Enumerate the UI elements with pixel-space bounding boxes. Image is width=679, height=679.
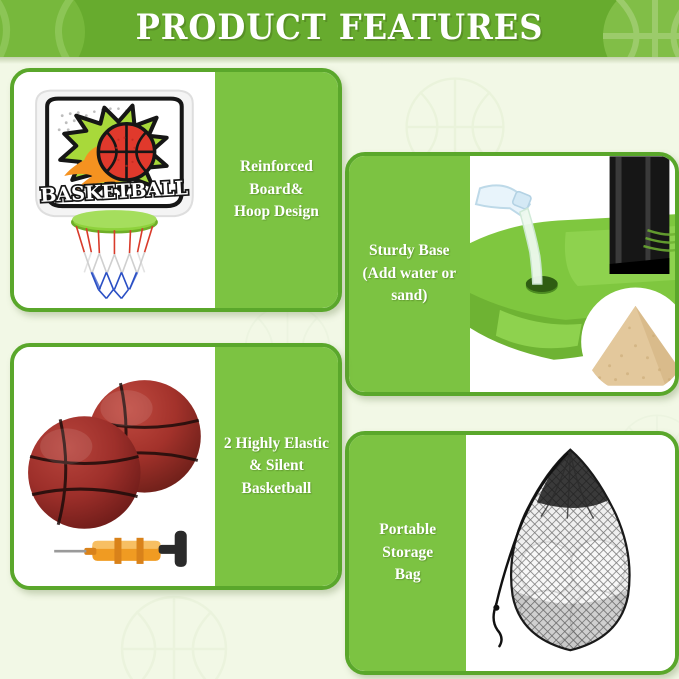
two-red-basketballs-with-pump-icon (14, 347, 215, 586)
feature-card-two-basketballs[interactable]: 2 Highly Elastic & Silent Basketball (10, 343, 342, 590)
basketball-front (28, 416, 140, 528)
banner-shadow (0, 57, 679, 64)
feature-image-sturdy-base (470, 156, 675, 392)
feature-image-storage-bag (466, 435, 675, 671)
feature-caption-panel: 2 Highly Elastic & Silent Basketball (215, 347, 338, 586)
feature-caption-panel: Portable Storage Bag (349, 435, 466, 671)
header-banner: PRODUCT FEATURES (0, 0, 679, 57)
feature-caption-panel: Reinforced Board& Hoop Design (215, 72, 338, 308)
green-base-with-water-fill-icon (470, 156, 675, 392)
feature-image-basketballs (14, 347, 215, 586)
feature-caption-storage-bag: Portable Storage Bag (349, 519, 466, 586)
black-mesh-drawstring-bag-icon (466, 435, 675, 671)
feature-image-backboard: BASKETBALL (14, 72, 215, 308)
feature-caption-sturdy-base: Sturdy Base (Add water or sand) (349, 240, 470, 307)
watermark-basketball-icon (115, 590, 233, 679)
feature-caption-two-basketballs: 2 Highly Elastic & Silent Basketball (215, 433, 338, 500)
feature-card-reinforced-board[interactable]: BASKETBALL (10, 68, 342, 312)
basketball-backboard-and-hoop-icon: BASKETBALL (14, 72, 215, 308)
feature-card-sturdy-base[interactable]: Sturdy Base (Add water or sand) (345, 152, 679, 396)
hand-pump (54, 531, 187, 567)
feature-caption-panel: Sturdy Base (Add water or sand) (349, 156, 470, 392)
page-title: PRODUCT FEATURES (27, 7, 652, 48)
feature-caption-reinforced-board: Reinforced Board& Hoop Design (215, 156, 338, 223)
feature-card-storage-bag[interactable]: Portable Storage Bag (345, 431, 679, 675)
product-features-infographic: PRODUCT FEATURES (0, 0, 679, 679)
